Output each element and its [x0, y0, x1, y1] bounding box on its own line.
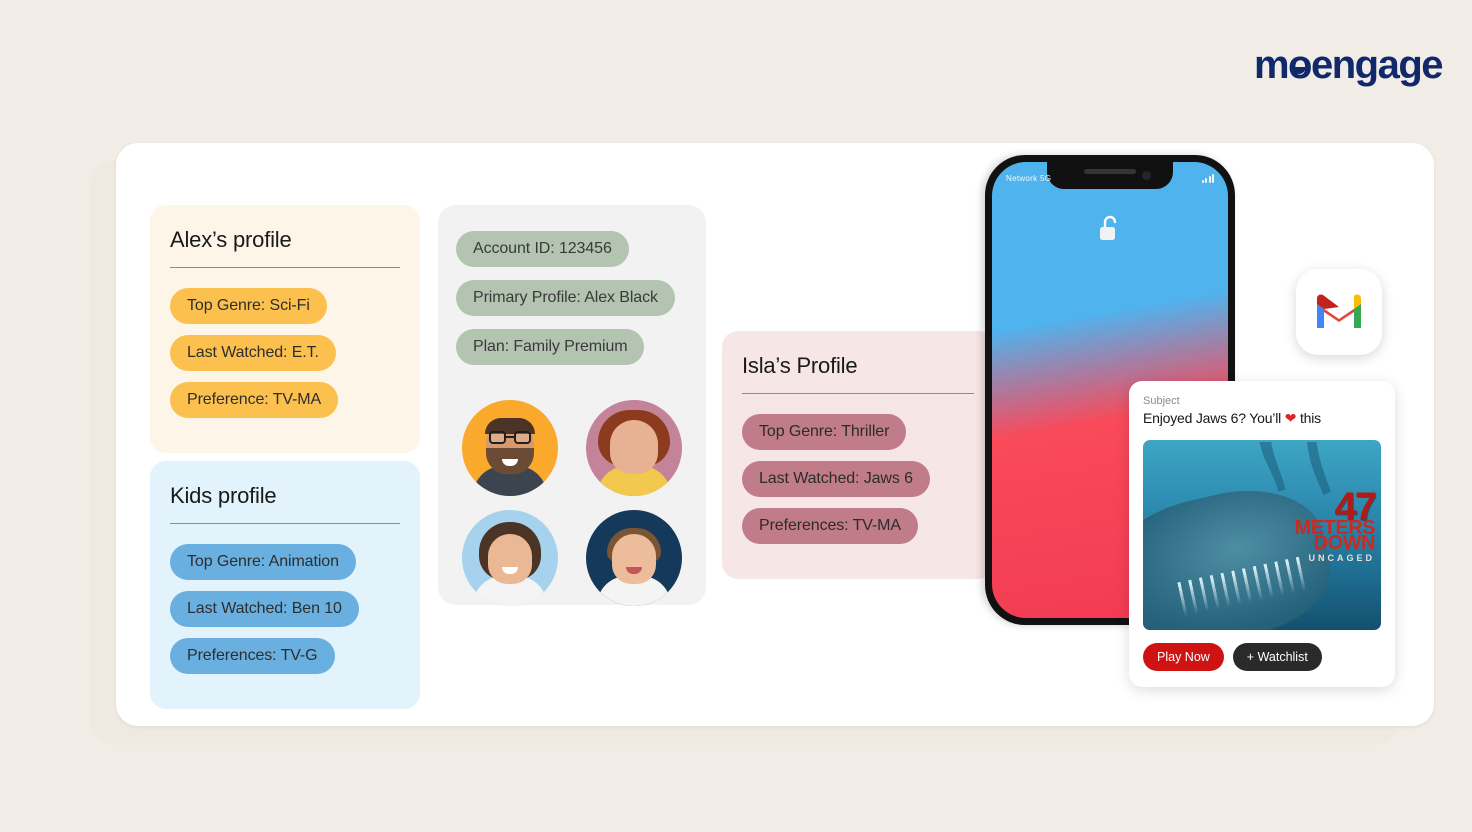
- gmail-icon: [1313, 292, 1365, 332]
- avatar-adult-male[interactable]: [462, 400, 558, 496]
- subject-text: Enjoyed Jaws 6? You’ll ❤ this: [1143, 409, 1381, 428]
- kids-profile-title: Kids profile: [170, 483, 400, 509]
- account-pill-plan[interactable]: Plan: Family Premium: [456, 329, 644, 365]
- isla-title-divider: [742, 393, 974, 394]
- kids-title-divider: [170, 523, 400, 524]
- glasses-icon: [489, 431, 531, 444]
- subject-text-before: Enjoyed Jaws 6? You’ll: [1143, 410, 1285, 426]
- alex-pill-last-watched[interactable]: Last Watched: E.T.: [170, 335, 336, 371]
- poster-title: 47 METERS DOWN UNCAGED: [1295, 489, 1375, 562]
- phone-status-bar: Network 5G: [992, 168, 1228, 188]
- avatar-child-boy[interactable]: [586, 510, 682, 606]
- kids-pill-last-watched[interactable]: Last Watched: Ben 10: [170, 591, 359, 627]
- heart-icon: ❤: [1285, 410, 1297, 426]
- email-notification-card: Subject Enjoyed Jaws 6? You’ll ❤ this 47…: [1129, 381, 1395, 687]
- moengage-logo: moengage: [1254, 45, 1442, 85]
- isla-pill-genre[interactable]: Top Genre: Thriller: [742, 414, 906, 450]
- avatar-adult-female[interactable]: [586, 400, 682, 496]
- kids-profile-card: Kids profile Top Genre: Animation Last W…: [150, 461, 420, 709]
- account-pill-id[interactable]: Account ID: 123456: [456, 231, 629, 267]
- alex-profile-card: Alex’s profile Top Genre: Sci-Fi Last Wa…: [150, 205, 420, 453]
- brand-o-glyph: o: [1288, 45, 1311, 85]
- avatar-child-girl[interactable]: [462, 510, 558, 606]
- alex-profile-title: Alex’s profile: [170, 227, 400, 253]
- signal-bars-icon: [1202, 174, 1215, 183]
- add-watchlist-button[interactable]: + Watchlist: [1233, 643, 1322, 671]
- brand-text-1: m: [1254, 43, 1288, 87]
- alex-pill-genre[interactable]: Top Genre: Sci-Fi: [170, 288, 327, 324]
- isla-profile-card: Isla’s Profile Top Genre: Thriller Last …: [722, 331, 994, 579]
- brand-text-2: engage: [1311, 43, 1442, 87]
- status-network-label: Network 5G: [1006, 174, 1051, 183]
- email-actions: Play Now + Watchlist: [1143, 643, 1381, 671]
- gmail-app-tile[interactable]: [1296, 269, 1382, 355]
- kids-pill-genre[interactable]: Top Genre: Animation: [170, 544, 356, 580]
- avatar-grid: [456, 400, 688, 606]
- alex-title-divider: [170, 267, 400, 268]
- poster-line-uncaged: UNCAGED: [1295, 554, 1375, 562]
- subject-text-after: this: [1296, 410, 1321, 426]
- movie-poster[interactable]: 47 METERS DOWN UNCAGED: [1143, 440, 1381, 630]
- isla-pill-preferences[interactable]: Preferences: TV-MA: [742, 508, 918, 544]
- account-card: Account ID: 123456 Primary Profile: Alex…: [438, 205, 706, 605]
- unlock-icon: [1097, 214, 1123, 249]
- alex-pill-preference[interactable]: Preference: TV-MA: [170, 382, 338, 418]
- kids-pill-preferences[interactable]: Preferences: TV-G: [170, 638, 335, 674]
- isla-profile-title: Isla’s Profile: [742, 353, 974, 379]
- isla-pill-last-watched[interactable]: Last Watched: Jaws 6: [742, 461, 930, 497]
- subject-label: Subject: [1143, 395, 1381, 407]
- account-pill-primary-profile[interactable]: Primary Profile: Alex Black: [456, 280, 675, 316]
- play-now-button[interactable]: Play Now: [1143, 643, 1224, 671]
